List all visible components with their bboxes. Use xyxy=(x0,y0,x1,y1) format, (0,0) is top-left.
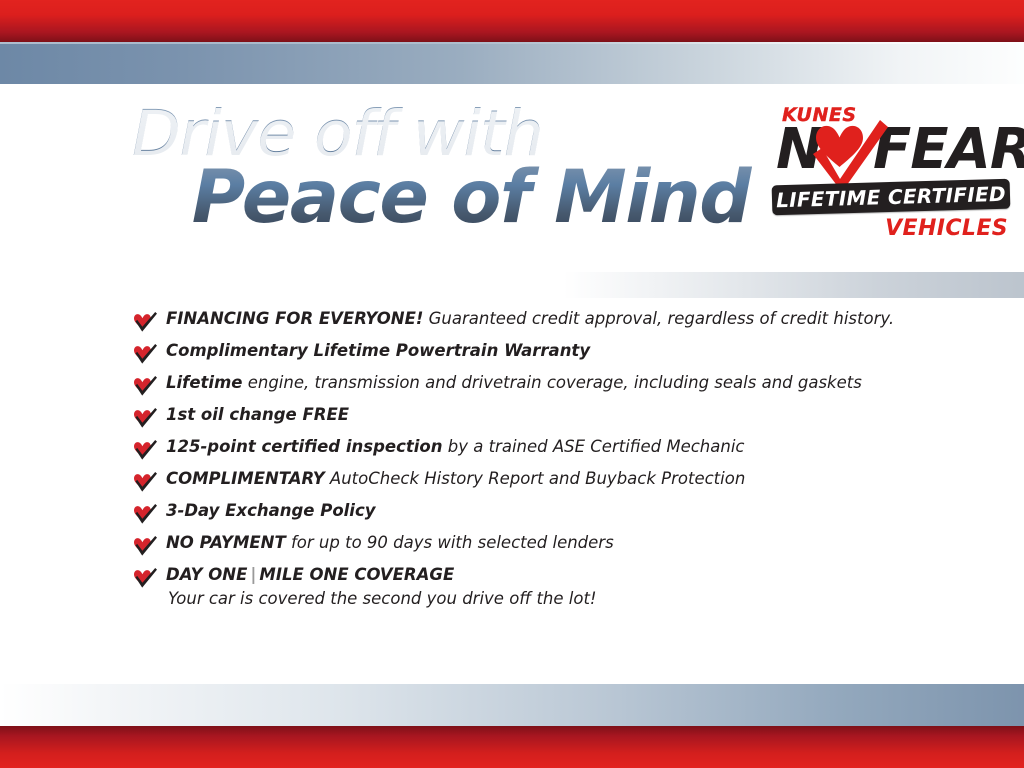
list-item: Lifetime engine, transmission and drivet… xyxy=(132,372,932,404)
header-section: Drive off with Peace of Mind KUNES N FEA… xyxy=(0,84,1024,272)
list-item-rest: AutoCheck History Report and Buyback Pro… xyxy=(325,469,746,488)
list-item: 1st oil change FREE xyxy=(132,404,932,436)
bottom-gray-bar xyxy=(0,684,1024,726)
list-item: COMPLIMENTARY AutoCheck History Report a… xyxy=(132,468,932,500)
list-item-text: Lifetime engine, transmission and drivet… xyxy=(166,372,932,394)
list-item: 3-Day Exchange Policy xyxy=(132,500,932,532)
benefits-list: FINANCING FOR EVERYONE! Guaranteed credi… xyxy=(132,308,932,618)
logo-banner-label: LIFETIME CERTIFIED xyxy=(772,179,1011,216)
promo-flyer: Drive off with Peace of Mind KUNES N FEA… xyxy=(0,0,1024,768)
list-item-bold: NO PAYMENT xyxy=(166,533,286,552)
list-item-separator: | xyxy=(247,565,259,584)
top-gray-bar xyxy=(0,42,1024,84)
heart-check-icon xyxy=(132,536,158,556)
list-item: NO PAYMENT for up to 90 days with select… xyxy=(132,532,932,564)
header-divider xyxy=(0,272,1024,298)
list-item-bold: DAY ONE xyxy=(166,565,247,584)
kunes-no-fear-logo: KUNES N FEAR LIFETIME CERTIFIED VEHICLES xyxy=(768,104,1016,252)
logo-word-fear: FEAR xyxy=(873,122,1024,178)
list-item-rest: for up to 90 days with selected lenders xyxy=(286,533,614,552)
list-item: FINANCING FOR EVERYONE! Guaranteed credi… xyxy=(132,308,932,340)
list-item-text: 1st oil change FREE xyxy=(166,404,932,426)
bottom-red-bar xyxy=(0,726,1024,768)
list-item-bold: Lifetime xyxy=(166,373,242,392)
list-item-bold: Complimentary Lifetime Powertrain Warran… xyxy=(166,341,590,360)
list-item-rest: by a trained ASE Certified Mechanic xyxy=(443,437,745,456)
list-item: DAY ONE|MILE ONE COVERAGE Your car is co… xyxy=(132,564,932,618)
list-item: 125-point certified inspection by a trai… xyxy=(132,436,932,468)
logo-wordmark: N FEAR xyxy=(776,122,1016,178)
heart-check-icon xyxy=(132,312,158,332)
list-item-bold: FINANCING FOR EVERYONE! xyxy=(166,309,423,328)
list-item-text: FINANCING FOR EVERYONE! Guaranteed credi… xyxy=(166,308,932,330)
list-item-bold-2: MILE ONE COVERAGE xyxy=(259,565,454,584)
logo-lifetime-certified-banner: LIFETIME CERTIFIED xyxy=(772,179,1011,216)
heart-check-icon xyxy=(132,440,158,460)
list-item-bold: COMPLIMENTARY xyxy=(166,469,325,488)
heart-check-icon xyxy=(132,504,158,524)
list-item-text: NO PAYMENT for up to 90 days with select… xyxy=(166,532,932,554)
list-item-bold: 1st oil change FREE xyxy=(166,405,349,424)
heart-check-icon xyxy=(132,344,158,364)
logo-vehicles-label: VEHICLES xyxy=(885,216,1008,241)
heart-check-icon xyxy=(810,118,888,192)
list-item-text: COMPLIMENTARY AutoCheck History Report a… xyxy=(166,468,932,490)
list-item-rest: engine, transmission and drivetrain cove… xyxy=(242,373,861,392)
heart-check-icon xyxy=(132,408,158,428)
list-item: Complimentary Lifetime Powertrain Warran… xyxy=(132,340,932,372)
list-item-text: Complimentary Lifetime Powertrain Warran… xyxy=(166,340,932,362)
list-item-text: 3-Day Exchange Policy xyxy=(166,500,932,522)
list-item-text: DAY ONE|MILE ONE COVERAGE xyxy=(166,564,932,586)
heart-check-icon xyxy=(132,568,158,588)
headline-line-2: Peace of Mind xyxy=(132,161,752,235)
list-item-subtext: Your car is covered the second you drive… xyxy=(166,588,932,610)
heart-check-icon xyxy=(132,472,158,492)
list-item-rest: Guaranteed credit approval, regardless o… xyxy=(423,309,894,328)
list-item-bold: 125-point certified inspection xyxy=(166,437,443,456)
headline-block: Drive off with Peace of Mind xyxy=(132,102,752,235)
heart-check-icon xyxy=(132,376,158,396)
top-red-bar xyxy=(0,0,1024,42)
list-item-text: 125-point certified inspection by a trai… xyxy=(166,436,932,458)
list-item-bold: 3-Day Exchange Policy xyxy=(166,501,376,520)
